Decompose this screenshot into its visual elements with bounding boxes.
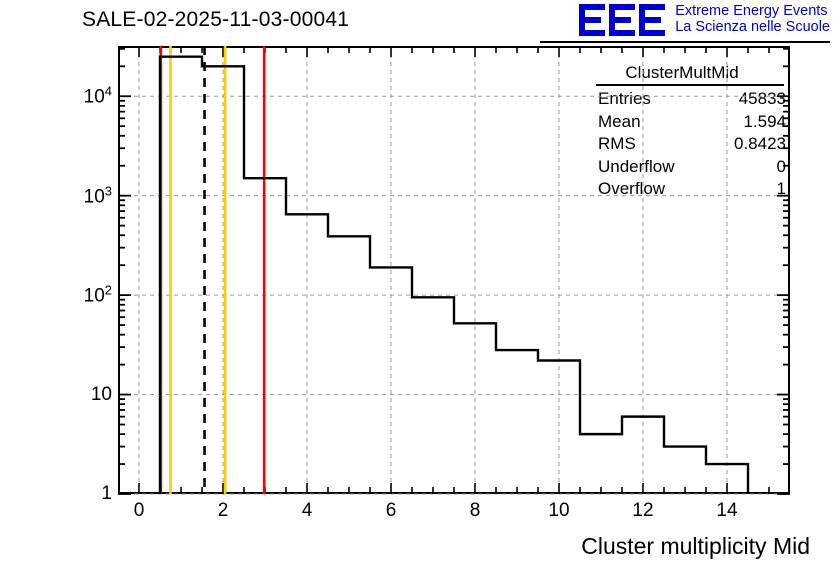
histogram-plot xyxy=(118,46,790,494)
y-axis-labels: 110102103104 xyxy=(60,46,112,494)
x-axis-title: Cluster multiplicity Mid xyxy=(581,533,810,560)
y-tick-label: 102 xyxy=(84,282,112,307)
x-axis-labels: 02468101214 xyxy=(118,500,790,530)
y-tick-label: 103 xyxy=(84,183,112,208)
y-tick-label: 104 xyxy=(84,84,112,109)
x-tick-label: 6 xyxy=(386,500,397,522)
x-tick-label: 2 xyxy=(218,500,229,522)
x-tick-label: 8 xyxy=(470,500,481,522)
page-title: SALE-02-2025-11-03-00041 xyxy=(82,8,349,32)
histogram-outline xyxy=(118,46,790,494)
eee-logo-mark-icon xyxy=(577,2,669,38)
x-tick-label: 10 xyxy=(548,500,569,522)
y-tick-label: 10 xyxy=(91,384,112,406)
logo-line-2: La Scienza nelle Scuole xyxy=(675,19,830,35)
y-tick-label: 1 xyxy=(101,483,112,505)
logo-underline xyxy=(540,41,830,43)
x-tick-label: 0 xyxy=(134,500,145,522)
logo-line-1: Extreme Energy Events xyxy=(675,3,830,19)
eee-logo: Extreme Energy Events La Scienza nelle S… xyxy=(577,2,830,38)
x-tick-label: 4 xyxy=(302,500,313,522)
x-tick-label: 12 xyxy=(632,500,653,522)
x-tick-label: 14 xyxy=(716,500,737,522)
